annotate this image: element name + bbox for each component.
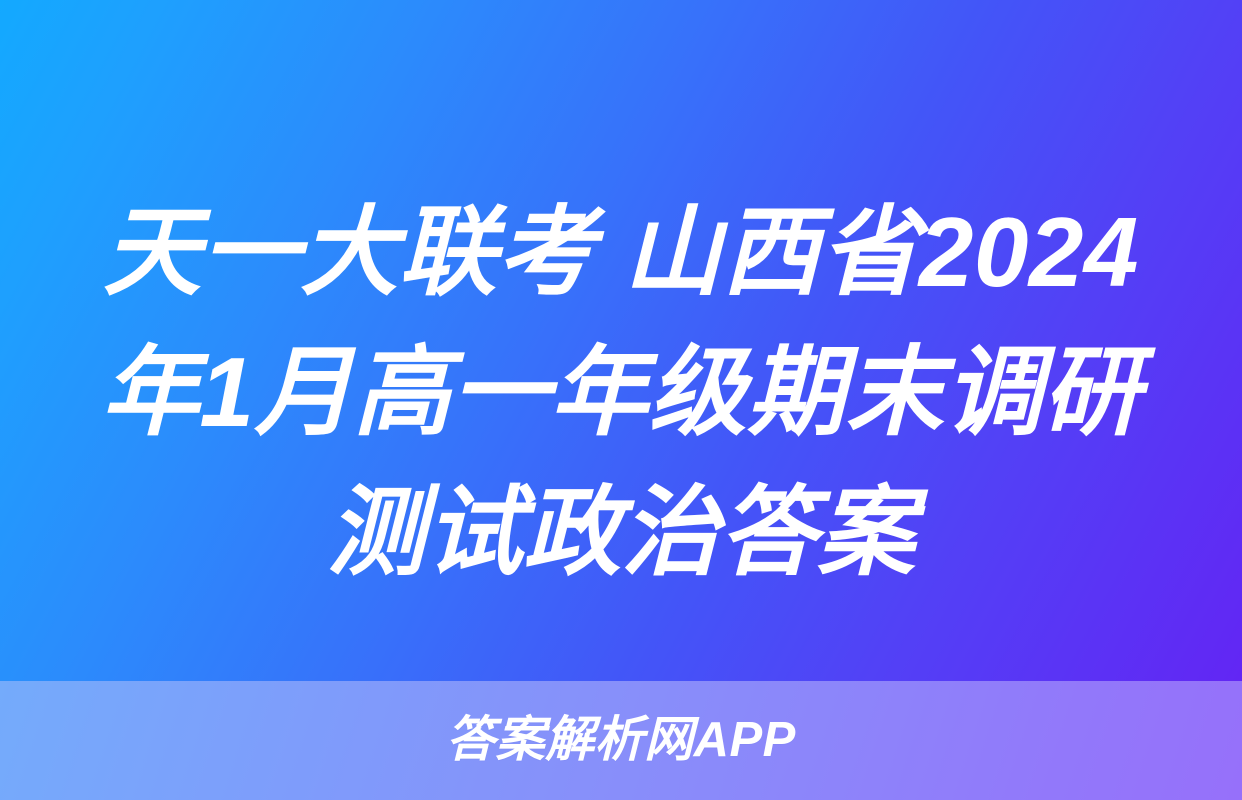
title-line-1: 天一大联考 山西省2024 xyxy=(78,182,1164,322)
screenshot-root: 天一大联考 山西省2024 年1月高一年级期末调研 测试政治答案 答案解析网AP… xyxy=(0,0,1242,800)
title-banner: 天一大联考 山西省2024 年1月高一年级期末调研 测试政治答案 xyxy=(0,0,1242,681)
title-line-2: 年1月高一年级期末调研 xyxy=(78,322,1164,462)
watermark-bar: 答案解析网APP xyxy=(0,681,1242,800)
page-title: 天一大联考 山西省2024 年1月高一年级期末调研 测试政治答案 xyxy=(78,182,1164,602)
app-watermark-label: 答案解析网APP xyxy=(446,716,796,765)
title-line-3: 测试政治答案 xyxy=(78,462,1164,602)
